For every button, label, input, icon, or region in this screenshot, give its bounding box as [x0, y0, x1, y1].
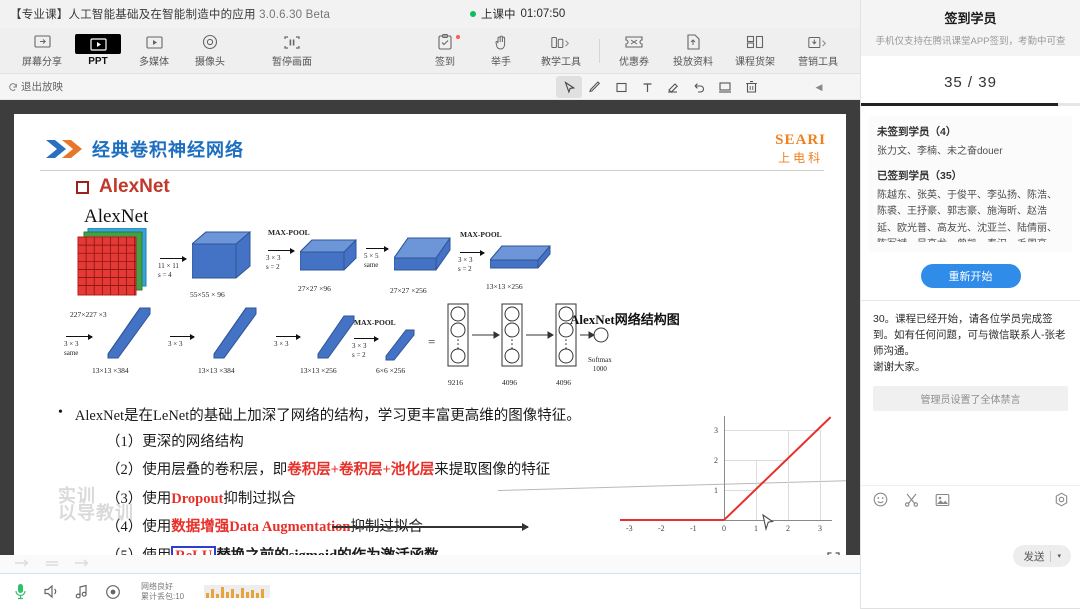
conv4-block-icon [208, 304, 264, 362]
select-cursor-icon[interactable] [556, 76, 582, 98]
tool-coupon-label: 优惠券 [619, 53, 649, 68]
arrow-5 [66, 336, 92, 337]
tool-pause-frame-label: 暂停画面 [272, 53, 312, 68]
checkin-panel-title: 签到学员 [871, 8, 1070, 27]
label-conv5-kernel: 3 × 3 [274, 340, 288, 349]
raise-hand-icon [490, 33, 512, 51]
y-axis [724, 416, 725, 520]
tool-marketing-tools[interactable]: 营销工具 [786, 28, 850, 74]
label-softmax: Softmax1000 [588, 356, 612, 374]
bullet-4-pre: 使用 [142, 519, 171, 535]
gridline-x2 [788, 430, 789, 520]
label-fc2: 4096 [502, 378, 517, 387]
brand-logo: SEARI 上电科 [775, 132, 826, 166]
xtick-0: 0 [722, 524, 726, 533]
unsigned-names: 张力文、李楠、未之奋douer [877, 144, 1064, 161]
pool2-block-icon [490, 228, 556, 278]
chat-toolbar [861, 485, 1080, 513]
bullet-main-text: AlexNet是在LeNet的基础上加深了网络的结构，学习更丰富更高维的图像特征… [75, 404, 581, 425]
label-pool2-out: 13×13 ×256 [486, 282, 523, 291]
tool-camera-label: 摄像头 [195, 53, 225, 68]
coupon-icon [623, 33, 645, 51]
label-pool1-out: 27×27 ×96 [298, 284, 331, 293]
send-options-chevron-icon[interactable]: ▾ [1057, 552, 1061, 560]
tool-checkin-label: 签到 [435, 53, 455, 68]
network-status-line2: 累计丢包:10 [141, 592, 184, 602]
emoji-icon[interactable] [873, 492, 888, 507]
toolbar-divider [599, 39, 600, 63]
restart-checkin-button[interactable]: 重新开始 [921, 264, 1021, 288]
exit-presentation-button[interactable]: 退出放映 [0, 79, 63, 94]
ppt-icon [75, 34, 121, 54]
double-chevron-icon [44, 138, 84, 160]
bullet-3-post: 抑制过拟合 [223, 491, 296, 507]
input-volume-icon [76, 228, 168, 308]
screen-share-icon [31, 33, 53, 51]
settings-icon[interactable] [1054, 492, 1069, 507]
text-icon[interactable] [634, 76, 660, 98]
eraser-icon[interactable] [660, 76, 686, 98]
gridline-x3 [820, 430, 821, 520]
tool-multimedia[interactable]: 多媒体 [126, 28, 182, 74]
main-toolbar: 屏幕分享 PPT 多媒体 摄像头 [0, 28, 860, 74]
xtick-3: 3 [818, 524, 822, 533]
label-conv5-out: 13×13 ×256 [300, 366, 337, 375]
mute-notice: 管理员设置了全体禁言 [873, 386, 1068, 411]
label-conv1-kernel: 11 × 11s = 4 [158, 262, 179, 280]
checkin-panel-header: 签到学员 手机仅支持在腾讯课堂APP签到，考勤中可查 [861, 0, 1080, 56]
ghost-icon-2 [44, 559, 60, 569]
label-conv3-out: 13×13 ×384 [92, 366, 129, 375]
rectangle-icon[interactable] [608, 76, 634, 98]
ytick-2: 2 [714, 456, 718, 465]
class-status-time: 01:07:50 [521, 8, 566, 20]
window-version: 3.0.6.30 Beta [259, 9, 330, 21]
conv1-block-icon [192, 230, 258, 286]
label-pool1-kernel: 3 × 3s = 2 [266, 254, 280, 272]
pool1-block-icon [300, 232, 362, 282]
arrow-8 [354, 338, 378, 339]
gridline-y3 [724, 430, 820, 431]
checkin-badge-dot [456, 35, 460, 39]
microphone-icon[interactable] [14, 583, 27, 600]
bottom-bar-ghost-row [0, 555, 860, 573]
marketing-tools-icon [807, 33, 829, 51]
image-icon[interactable] [935, 493, 950, 507]
signed-names: 陈越东、张英、于俊平、李弘扬、陈浩、陈裘、王抒豪、郭志豪、施海昕、赵浩延、欧光普… [877, 188, 1064, 242]
bullet-2-post: 来提取图像的特征 [434, 462, 550, 478]
chat-input-area[interactable]: 发送 ▾ [861, 513, 1080, 575]
tool-course-shelf[interactable]: 课程货架 [724, 28, 786, 74]
relu-line-negative [620, 519, 724, 521]
tool-marketing-tools-label: 营销工具 [798, 53, 838, 68]
slide-header: 经典卷积神经网络 [44, 136, 244, 162]
annotation-arrow [332, 526, 528, 528]
presentation-subbar: 退出放映 [0, 74, 860, 100]
bullet-2-pre: 使用层叠的卷积层，即 [142, 462, 287, 478]
unsigned-heading: 未签到学员（4） [877, 124, 1064, 139]
tool-pause-frame[interactable]: 暂停画面 [260, 28, 324, 74]
chat-message: 30。课程已经开始，请各位学员完成签到。如有任何问题，可与微信联系人-张老师沟通… [861, 301, 1080, 376]
slide-title: 经典卷积神经网络 [92, 136, 244, 162]
share-material-icon [682, 33, 704, 51]
checkin-count: 35 / 39 [861, 56, 1080, 103]
trash-icon[interactable] [738, 76, 764, 98]
camera-record-icon[interactable] [105, 584, 121, 600]
tool-screen-share[interactable]: 屏幕分享 [14, 28, 70, 74]
ytick-3: 3 [714, 426, 718, 435]
arrow-3 [366, 248, 388, 249]
class-status-label: 上课中 [481, 6, 516, 22]
exit-presentation-label: 退出放映 [21, 79, 63, 94]
tool-course-shelf-label: 课程货架 [735, 53, 775, 68]
diagram-caption: AlexNet网络结构图 [570, 309, 680, 328]
tool-coupon[interactable]: 优惠券 [606, 28, 662, 74]
send-button-label: 发送 [1023, 549, 1044, 564]
header-divider [40, 170, 824, 171]
right-panel: 签到学员 手机仅支持在腾讯课堂APP签到，考勤中可查 35 / 39 未签到学员… [860, 0, 1080, 609]
label-conv1-out: 55×55 × 96 [190, 290, 225, 299]
tool-camera[interactable]: 摄像头 [182, 28, 238, 74]
label-pool3-out: 6×6 ×256 [376, 366, 405, 375]
multimedia-icon [143, 33, 165, 51]
send-control-group: 发送 ▾ [1013, 545, 1071, 567]
label-equals: = [428, 334, 435, 350]
slide-section-title: AlexNet [99, 176, 170, 198]
ghost-icon-1 [14, 559, 30, 569]
mouse-cursor-icon [762, 514, 775, 531]
arrow-1 [160, 258, 186, 259]
whiteboard-icon[interactable] [712, 76, 738, 98]
audio-level-meter [204, 585, 270, 598]
pen-icon[interactable] [582, 76, 608, 98]
annotation-toolbar [556, 74, 764, 100]
relu-chart: -3 -2 -1 0 1 2 3 1 2 3 [616, 414, 832, 544]
diagram-title: AlexNet [84, 206, 148, 228]
checkin-panel-subtitle: 手机仅支持在腾讯课堂APP签到，考勤中可查 [871, 33, 1070, 47]
bullet-2-num: （2） [106, 462, 142, 478]
label-conv2-out: 27×27 ×256 [390, 286, 427, 295]
alexnet-diagram: AlexNet 227×227 ×3 11 × 11s = 4 [48, 206, 588, 396]
bullet-4-mid: 数据增强Data Augmentation [171, 519, 350, 535]
label-conv3-kernel: 3 × 3same [64, 340, 78, 358]
window-title-text: 【专业课】人工智能基础及在智能制造中的应用 [10, 9, 256, 21]
signed-heading: 已签到学员（35） [877, 168, 1064, 183]
watermark: 实训以导教训 [58, 488, 134, 522]
live-dot-icon [470, 11, 476, 17]
tool-raise-hand-label: 举手 [491, 53, 511, 68]
conv2-block-icon [394, 224, 456, 282]
course-shelf-icon [744, 33, 766, 51]
annotation-collapse-button[interactable]: ◀ [812, 74, 826, 100]
checkin-student-lists: 未签到学员（4） 张力文、李楠、未之奋douer 已签到学员（35） 陈越东、张… [869, 116, 1072, 252]
xtick-2: 2 [786, 524, 790, 533]
xtick--3: -3 [626, 524, 633, 533]
bullet-1-num: （1） [106, 434, 142, 450]
arrow-4 [460, 252, 484, 253]
exit-icon [8, 82, 18, 92]
relu-line-positive [723, 416, 831, 520]
music-icon[interactable] [75, 584, 89, 599]
checkin-progress-bar [861, 103, 1080, 106]
bottom-bar: 网络良好 累计丢包:10 [0, 555, 860, 609]
label-conv2-kernel: 5 × 5same [364, 252, 378, 270]
send-divider [1050, 551, 1051, 562]
camera-icon [199, 33, 221, 51]
tool-raise-hand[interactable]: 举手 [473, 28, 529, 74]
send-button[interactable]: 发送 ▾ [1013, 545, 1071, 567]
ghost-icon-3 [74, 559, 90, 569]
bullet-1-pre: 更深的网络结构 [142, 434, 244, 450]
tool-share-material-label: 投放资料 [673, 53, 713, 68]
checkin-icon [434, 33, 456, 51]
tool-teaching-tools[interactable]: 教学工具 [529, 28, 593, 74]
gridline-x1 [756, 460, 757, 520]
slide-section-header: AlexNet [76, 176, 170, 198]
tool-checkin[interactable]: 签到 [417, 28, 473, 74]
label-conv4-kernel: 3 × 3 [168, 340, 182, 349]
label-fc3: 4096 [556, 378, 571, 387]
brand-logo-en: SEARI [775, 132, 826, 149]
class-status: 上课中 01:07:50 [470, 0, 565, 28]
bullet-2-mid: 卷积层+卷积层+池化层 [287, 462, 434, 478]
label-fc1: 9216 [448, 378, 463, 387]
speaker-icon[interactable] [43, 584, 59, 599]
pool3-block-icon [384, 324, 424, 368]
bullet-dot-icon: • [58, 404, 63, 425]
label-conv4-out: 13×13 ×384 [198, 366, 235, 375]
presentation-stage: 经典卷积神经网络 SEARI 上电科 AlexNet AlexNet [0, 100, 860, 555]
xtick-1: 1 [754, 524, 758, 533]
undo-icon[interactable] [686, 76, 712, 98]
brand-logo-cn: 上电科 [775, 149, 826, 166]
network-status: 网络良好 累计丢包:10 [141, 582, 184, 602]
teaching-tools-icon [550, 33, 572, 51]
label-pool2-kernel: 3 × 3s = 2 [458, 256, 472, 274]
tool-share-material[interactable]: 投放资料 [662, 28, 724, 74]
tool-ppt[interactable]: PPT [70, 28, 126, 74]
scissors-icon[interactable] [904, 492, 919, 507]
bottom-bar-controls: 网络良好 累计丢包:10 [0, 574, 860, 609]
tool-screen-share-label: 屏幕分享 [22, 53, 62, 68]
network-status-line1: 网络良好 [141, 582, 184, 592]
tencent-classroom-window: 【专业课】人工智能基础及在智能制造中的应用 3.0.6.30 Beta 上课中 … [0, 0, 1080, 609]
ytick-1: 1 [714, 486, 718, 495]
xtick--2: -2 [658, 524, 665, 533]
arrow-7 [276, 336, 300, 337]
window-title: 【专业课】人工智能基础及在智能制造中的应用 3.0.6.30 Beta [0, 6, 330, 22]
pause-frame-icon [281, 33, 303, 51]
label-pool3-kernel: 3 × 3s = 2 [352, 342, 366, 360]
bullet-3-pre: 使用 [142, 491, 171, 507]
tool-multimedia-label: 多媒体 [139, 53, 169, 68]
square-bullet-icon [76, 181, 89, 194]
slide-canvas[interactable]: 经典卷积神经网络 SEARI 上电科 AlexNet AlexNet [14, 114, 846, 569]
bullet-3-mid: Dropout [171, 491, 223, 507]
arrow-6 [170, 336, 194, 337]
arrow-2 [268, 250, 294, 251]
xtick--1: -1 [690, 524, 697, 533]
tool-teaching-tools-label: 教学工具 [541, 53, 581, 68]
title-bar: 【专业课】人工智能基础及在智能制造中的应用 3.0.6.30 Beta [0, 0, 860, 28]
conv3-block-icon [102, 304, 158, 362]
tool-ppt-label: PPT [88, 56, 107, 67]
